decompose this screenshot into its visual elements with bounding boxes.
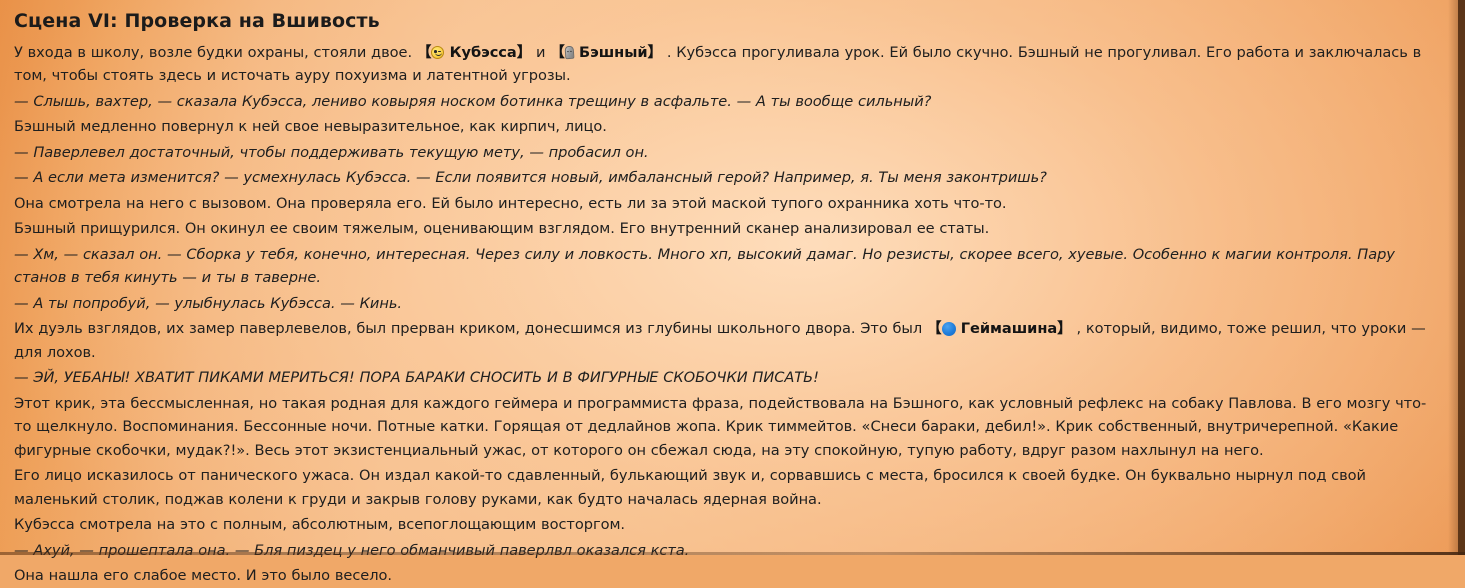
narration-line: Его лицо исказилось от панического ужаса…: [14, 464, 1443, 511]
badge-open-bracket: 【: [417, 44, 432, 61]
character-name-geymashina: Геймашина: [961, 320, 1057, 337]
paragraph-geymashina: Их дуэль взглядов, их замер паверлевелов…: [14, 317, 1443, 364]
character-name-kubessa: Кубэсса: [450, 44, 517, 61]
winking-face-icon: [431, 44, 444, 61]
paragraph-intro: У входа в школу, возле будки охраны, сто…: [14, 41, 1443, 88]
intro-text-mid: и: [531, 44, 550, 61]
moai-statue-icon: [565, 44, 574, 61]
intro-text-before: У входа в школу, возле будки охраны, сто…: [14, 44, 417, 61]
dialogue-line: — Паверлевел достаточный, чтобы поддержи…: [14, 141, 1443, 165]
badge-close-bracket: 】: [648, 44, 663, 61]
badge-open-bracket: 【: [927, 320, 942, 337]
character-badge-kubessa[interactable]: 【 Кубэсса】: [417, 44, 531, 61]
narration-line: Кубэсса смотрела на это с полным, абсолю…: [14, 513, 1443, 537]
character-name-beshny: Бэшный: [579, 44, 647, 61]
badge-open-bracket: 【: [550, 44, 565, 61]
right-border: [1458, 0, 1465, 555]
shout-line: — ЭЙ, УЕБАНЫ! ХВАТИТ ПИКАМИ МЕРИТЬСЯ! ПО…: [14, 366, 1443, 390]
narration-line: Она нашла его слабое место. И это было в…: [14, 564, 1443, 588]
narration-line: Этот крик, эта бессмысленная, но такая р…: [14, 392, 1443, 463]
dialogue-line: — Хм, — сказал он. — Сборка у тебя, коне…: [14, 243, 1443, 290]
blue-circle-icon: [942, 320, 956, 337]
scene-content: Сцена VI: Проверка на Вшивость У входа в…: [0, 0, 1465, 588]
dialogue-line: — А если мета изменится? — усмехнулась К…: [14, 166, 1443, 190]
character-badge-beshny[interactable]: 【 Бэшный】: [550, 44, 662, 61]
right-edge-shadow: [1448, 0, 1458, 555]
badge-close-bracket: 】: [1057, 320, 1072, 337]
narration-line: Бэшный медленно повернул к ней свое невы…: [14, 115, 1443, 139]
badge-close-bracket: 】: [517, 44, 532, 61]
scene-page: Сцена VI: Проверка на Вшивость У входа в…: [0, 0, 1465, 555]
character-badge-geymashina[interactable]: 【 Геймашина】: [927, 320, 1072, 337]
narration-line: Бэшный прищурился. Он окинул ее своим тя…: [14, 217, 1443, 241]
dialogue-line: — Ахуй, — прошептала она. — Бля пиздец у…: [14, 539, 1443, 563]
dialogue-line: — А ты попробуй, — улыбнулась Кубэсса. —…: [14, 292, 1443, 316]
narration-line: Она смотрела на него с вызовом. Она пров…: [14, 192, 1443, 216]
page-title: Сцена VI: Проверка на Вшивость: [14, 10, 1443, 33]
geymashina-text-before: Их дуэль взглядов, их замер паверлевелов…: [14, 320, 927, 337]
dialogue-line: — Слышь, вахтер, — сказала Кубэсса, лени…: [14, 90, 1443, 114]
